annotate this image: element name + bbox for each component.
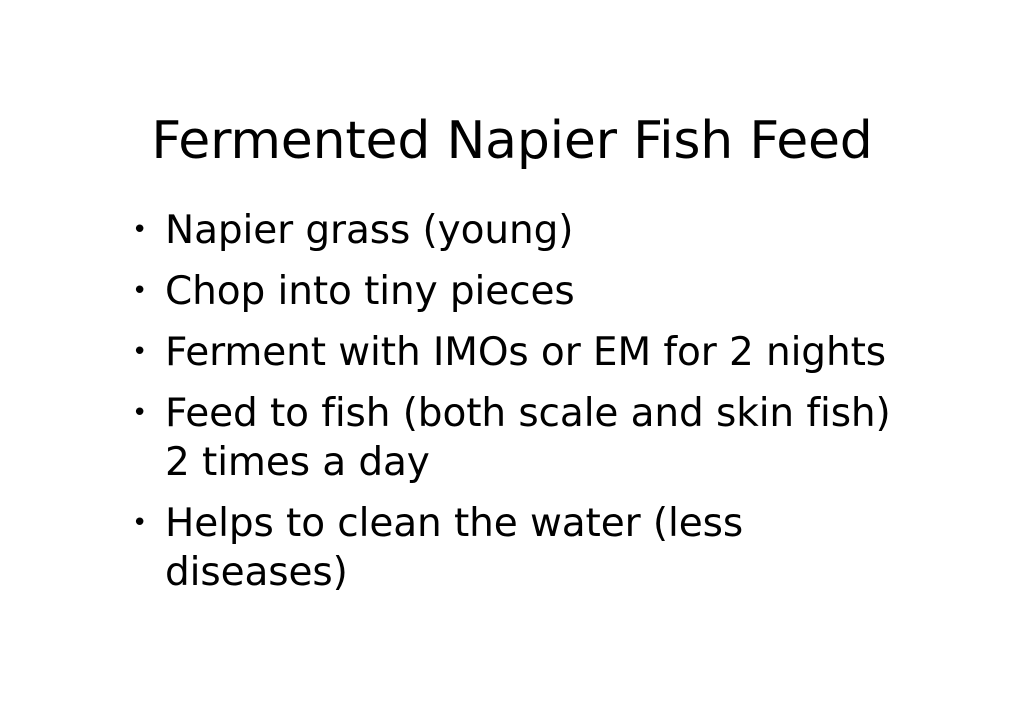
bullet-point-icon: • (132, 389, 152, 438)
bullet-point-icon: • (132, 267, 152, 316)
list-item-label: Helps to clean the water (less diseases) (165, 499, 920, 597)
list-item: • Napier grass (young) (130, 206, 920, 255)
list-item: • Feed to fish (both scale and skin fish… (130, 389, 920, 487)
list-item-label: Ferment with IMOs or EM for 2 nights (165, 328, 920, 377)
list-item: • Chop into tiny pieces (130, 267, 920, 316)
list-item-label: Napier grass (young) (165, 206, 920, 255)
presentation-slide: Fermented Napier Fish Feed • Napier gras… (0, 0, 1024, 724)
list-item-label: Chop into tiny pieces (165, 267, 920, 316)
list-item: • Ferment with IMOs or EM for 2 nights (130, 328, 920, 377)
bullet-point-icon: • (132, 328, 152, 377)
bullet-point-icon: • (132, 499, 152, 548)
list-item: • Helps to clean the water (less disease… (130, 499, 920, 597)
list-item-label: Feed to fish (both scale and skin fish) … (165, 389, 920, 487)
page-title: Fermented Napier Fish Feed (0, 113, 1024, 169)
bullet-list: • Napier grass (young) • Chop into tiny … (130, 206, 920, 597)
bullet-point-icon: • (132, 206, 152, 255)
